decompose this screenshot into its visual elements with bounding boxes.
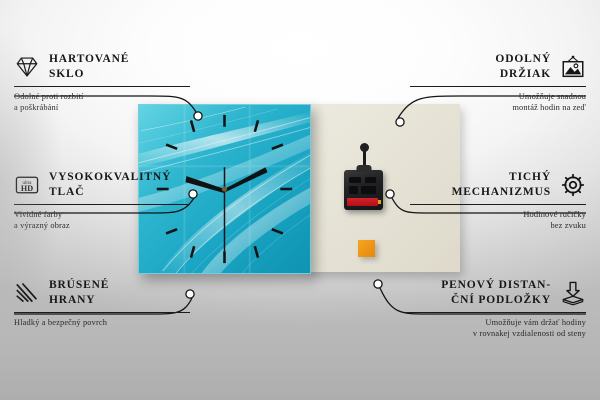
ultra-hd-icon: ultra HD <box>14 172 40 198</box>
mechanism-slot <box>349 177 361 183</box>
minute-hand <box>224 167 267 192</box>
feature-title: VYSOKOKVALITNÝTLAČ <box>49 170 171 201</box>
feature-title: ODOLNÝDRŽIAK <box>495 52 551 83</box>
divider <box>410 204 586 205</box>
hands-hub <box>222 186 227 191</box>
hour-hand <box>185 176 224 193</box>
feature-title: TICHÝMECHANIZMUS <box>452 170 551 201</box>
arrow-onto-pad-icon <box>560 280 586 306</box>
feature-description: Umožňuje snadnoumontáž hodin na zeď <box>410 91 586 115</box>
framed-picture-icon <box>560 54 586 80</box>
feature-description: Hodinové ručičkybez zvuku <box>410 209 586 233</box>
feature-title: BRÚSENÉHRANY <box>49 278 109 309</box>
gear-icon <box>560 172 586 198</box>
feature-foam-spacers: PENOVÝ DISTAN-ČNÍ PODLOŽKY Umožňuje vám … <box>404 278 586 340</box>
feature-ground-edges: BRÚSENÉHRANY Hladký a bezpečný povrch <box>14 278 190 328</box>
clock-mechanism <box>344 170 383 210</box>
infographic-canvas: HARTOVANÉSKLO Odolné proti rozbitía pošk… <box>0 0 600 400</box>
mechanism-hanger-lug <box>356 165 371 172</box>
mechanism-slot <box>349 186 358 194</box>
feature-quiet-mechanism: TICHÝMECHANIZMUS Hodinové ručičkybez zvu… <box>410 170 586 232</box>
feature-description: Umožňuje vám držať hodinyv rovnakej vzdi… <box>404 317 586 341</box>
feature-title: PENOVÝ DISTAN-ČNÍ PODLOŽKY <box>441 278 551 309</box>
feature-description: Vividné farbya výrazný obraz <box>14 209 190 233</box>
feature-durable-hanger: ODOLNÝDRŽIAK Umožňuje snadnoumontáž hodi… <box>410 52 586 114</box>
diagonal-lines-icon <box>14 280 40 306</box>
divider <box>14 86 190 87</box>
feature-heading: ODOLNÝDRŽIAK <box>410 52 586 83</box>
mechanism-slot <box>361 186 376 194</box>
feature-description: Hladký a bezpečný povrch <box>14 317 190 329</box>
feature-heading: TICHÝMECHANIZMUS <box>410 170 586 201</box>
feature-heading: BRÚSENÉHRANY <box>14 278 190 309</box>
diamond-icon <box>14 54 40 80</box>
divider <box>14 312 190 313</box>
foam-spacer-pad <box>358 240 375 257</box>
feature-tempered-glass: HARTOVANÉSKLO Odolné proti rozbitía pošk… <box>14 52 190 114</box>
clock-hands <box>185 167 267 251</box>
divider <box>410 86 586 87</box>
mechanism-slot <box>365 177 376 183</box>
svg-text:HD: HD <box>21 184 33 193</box>
mechanism-battery <box>347 198 378 206</box>
feature-title: HARTOVANÉSKLO <box>49 52 129 83</box>
divider <box>404 312 586 313</box>
feature-high-quality-print: ultra HD VYSOKOKVALITNÝTLAČ Vividné farb… <box>14 170 190 232</box>
divider <box>14 204 190 205</box>
feature-heading: PENOVÝ DISTAN-ČNÍ PODLOŽKY <box>404 278 586 309</box>
connector-node-6 <box>374 280 382 288</box>
feature-description: Odolné proti rozbitía poškrábání <box>14 91 190 115</box>
feature-heading: ultra HD VYSOKOKVALITNÝTLAČ <box>14 170 190 201</box>
feature-heading: HARTOVANÉSKLO <box>14 52 190 83</box>
